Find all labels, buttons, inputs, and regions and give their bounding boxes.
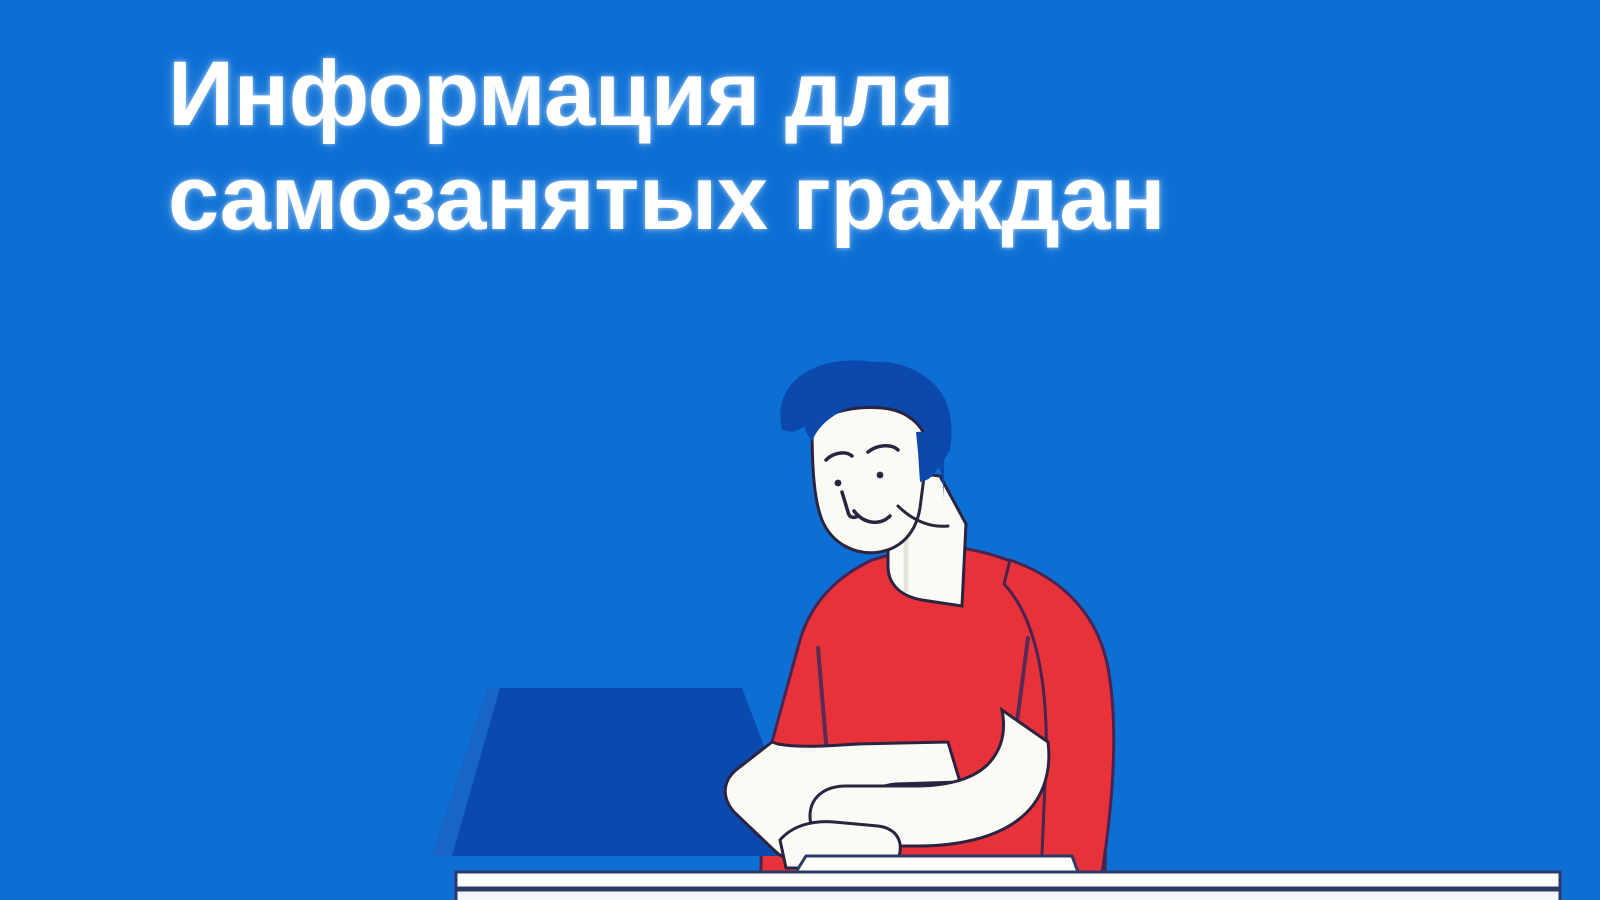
title-line-2: самозанятых граждан	[168, 146, 1348, 250]
eye-right	[877, 472, 884, 479]
desk-surface-lower	[456, 890, 1560, 900]
eye-left	[835, 480, 842, 487]
face-shape	[812, 408, 928, 553]
page-title: Информация для самозанятых граждан	[168, 42, 1348, 250]
title-line-1: Информация для	[168, 42, 1348, 146]
poster-canvas: Информация для самозанятых граждан	[0, 0, 1600, 900]
laptop-base-shape	[796, 856, 1078, 872]
desk-surface-shape	[456, 872, 1560, 888]
